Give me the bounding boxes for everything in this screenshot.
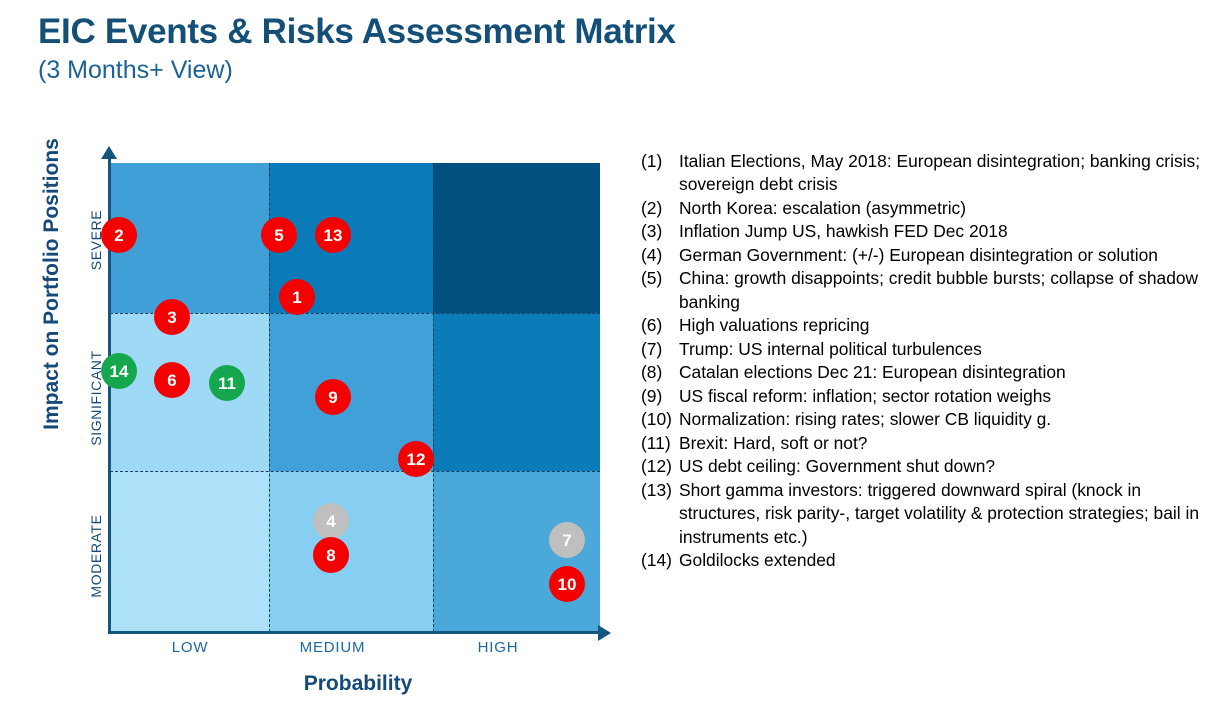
legend-item-number: (4) bbox=[641, 244, 679, 267]
risk-marker-11[interactable]: 11 bbox=[209, 365, 245, 401]
cell-high-significant bbox=[433, 313, 600, 471]
risk-marker-8[interactable]: 8 bbox=[313, 537, 349, 573]
legend-item-text: Goldilocks extended bbox=[679, 549, 1207, 572]
legend-item: (5)China: growth disappoints; credit bub… bbox=[641, 267, 1207, 314]
cell-medium-moderate bbox=[269, 471, 433, 632]
legend-item-text: Inflation Jump US, hawkish FED Dec 2018 bbox=[679, 220, 1207, 243]
grid-line-horizontal-significant-moderate bbox=[110, 471, 600, 472]
legend-item-number: (7) bbox=[641, 338, 679, 361]
risk-marker-14[interactable]: 14 bbox=[101, 353, 137, 389]
risk-marker-label: 10 bbox=[558, 576, 577, 593]
legend-item-number: (1) bbox=[641, 150, 679, 173]
legend-item-number: (9) bbox=[641, 385, 679, 408]
y-axis-arrow-icon bbox=[101, 146, 117, 159]
legend-item-number: (12) bbox=[641, 455, 679, 478]
y-tick-moderate: MODERATE bbox=[88, 490, 104, 622]
y-tick-significant: SIGNIFICANT bbox=[88, 328, 104, 468]
risk-marker-label: 11 bbox=[218, 375, 236, 392]
legend-item-number: (14) bbox=[641, 549, 679, 572]
risk-legend-list: (1)Italian Elections, May 2018: European… bbox=[641, 150, 1207, 573]
legend-item-number: (10) bbox=[641, 408, 679, 431]
legend-item: (4)German Government: (+/-) European dis… bbox=[641, 244, 1207, 267]
x-axis-arrow-icon bbox=[598, 625, 611, 641]
risk-marker-3[interactable]: 3 bbox=[154, 299, 190, 335]
legend-item-text: China: growth disappoints; credit bubble… bbox=[679, 267, 1207, 314]
risk-marker-label: 2 bbox=[114, 227, 123, 244]
risk-marker-2[interactable]: 2 bbox=[101, 217, 137, 253]
risk-marker-6[interactable]: 6 bbox=[154, 362, 190, 398]
legend-item-number: (2) bbox=[641, 197, 679, 220]
risk-marker-5[interactable]: 5 bbox=[261, 217, 297, 253]
legend-item-number: (13) bbox=[641, 479, 679, 502]
legend-item-text: US fiscal reform: inflation; sector rota… bbox=[679, 385, 1207, 408]
risk-marker-label: 4 bbox=[326, 513, 335, 530]
legend-item: (1)Italian Elections, May 2018: European… bbox=[641, 150, 1207, 197]
legend-item: (7)Trump: US internal political turbulen… bbox=[641, 338, 1207, 361]
legend-item-text: Brexit: Hard, soft or not? bbox=[679, 432, 1207, 455]
legend-item-text: Normalization: rising rates; slower CB l… bbox=[679, 408, 1207, 431]
x-axis-title: Probability bbox=[178, 672, 538, 696]
x-axis-line bbox=[108, 631, 600, 634]
risk-marker-4[interactable]: 4 bbox=[313, 503, 349, 539]
risk-marker-label: 5 bbox=[274, 227, 283, 244]
risk-marker-10[interactable]: 10 bbox=[549, 566, 585, 602]
legend-item-number: (11) bbox=[641, 432, 679, 455]
risk-marker-label: 1 bbox=[292, 289, 301, 306]
risk-marker-label: 7 bbox=[562, 532, 571, 549]
legend-item-text: High valuations repricing bbox=[679, 314, 1207, 337]
legend-item-text: Trump: US internal political turbulences bbox=[679, 338, 1207, 361]
legend-item-text: Italian Elections, May 2018: European di… bbox=[679, 150, 1207, 197]
legend-item-number: (5) bbox=[641, 267, 679, 290]
legend-item-number: (3) bbox=[641, 220, 679, 243]
legend-item-text: Short gamma investors: triggered downwar… bbox=[679, 479, 1207, 549]
risk-marker-label: 3 bbox=[167, 309, 176, 326]
legend-item: (14)Goldilocks extended bbox=[641, 549, 1207, 572]
legend-item: (12)US debt ceiling: Government shut dow… bbox=[641, 455, 1207, 478]
x-tick-medium: MEDIUM bbox=[270, 639, 395, 656]
cell-high-severe bbox=[433, 163, 600, 313]
legend-item: (2)North Korea: escalation (asymmetric) bbox=[641, 197, 1207, 220]
cell-low-significant bbox=[110, 313, 269, 471]
legend-item: (6)High valuations repricing bbox=[641, 314, 1207, 337]
legend-item-text: German Government: (+/-) European disint… bbox=[679, 244, 1207, 267]
legend-item-text: Catalan elections Dec 21: European disin… bbox=[679, 361, 1207, 384]
grid-line-vertical-medium-high bbox=[433, 163, 434, 632]
risk-marker-12[interactable]: 12 bbox=[398, 441, 434, 477]
risk-marker-9[interactable]: 9 bbox=[315, 379, 351, 415]
risk-marker-label: 6 bbox=[167, 372, 176, 389]
plot-area bbox=[110, 163, 600, 632]
legend-item: (3)Inflation Jump US, hawkish FED Dec 20… bbox=[641, 220, 1207, 243]
risk-marker-1[interactable]: 1 bbox=[279, 279, 315, 315]
legend-item: (10)Normalization: rising rates; slower … bbox=[641, 408, 1207, 431]
legend-item: (8)Catalan elections Dec 21: European di… bbox=[641, 361, 1207, 384]
risk-marker-label: 9 bbox=[328, 389, 337, 406]
legend-item-text: US debt ceiling: Government shut down? bbox=[679, 455, 1207, 478]
legend-item: (9)US fiscal reform: inflation; sector r… bbox=[641, 385, 1207, 408]
risk-marker-label: 8 bbox=[326, 547, 335, 564]
legend-item-number: (6) bbox=[641, 314, 679, 337]
legend-item: (13)Short gamma investors: triggered dow… bbox=[641, 479, 1207, 549]
y-axis-title: Impact on Portfolio Positions bbox=[40, 114, 64, 454]
x-tick-low: LOW bbox=[130, 639, 250, 656]
cell-low-moderate bbox=[110, 471, 269, 632]
risk-marker-7[interactable]: 7 bbox=[549, 522, 585, 558]
risk-marker-label: 12 bbox=[407, 451, 426, 468]
risk-marker-13[interactable]: 13 bbox=[315, 217, 351, 253]
risk-marker-label: 13 bbox=[324, 227, 343, 244]
risk-matrix-chart: Impact on Portfolio Positions SEVERE SIG… bbox=[0, 0, 630, 702]
legend-item-text: North Korea: escalation (asymmetric) bbox=[679, 197, 1207, 220]
legend-item: (11)Brexit: Hard, soft or not? bbox=[641, 432, 1207, 455]
x-tick-high: HIGH bbox=[438, 639, 558, 656]
risk-marker-label: 14 bbox=[110, 363, 129, 380]
legend-item-number: (8) bbox=[641, 361, 679, 384]
